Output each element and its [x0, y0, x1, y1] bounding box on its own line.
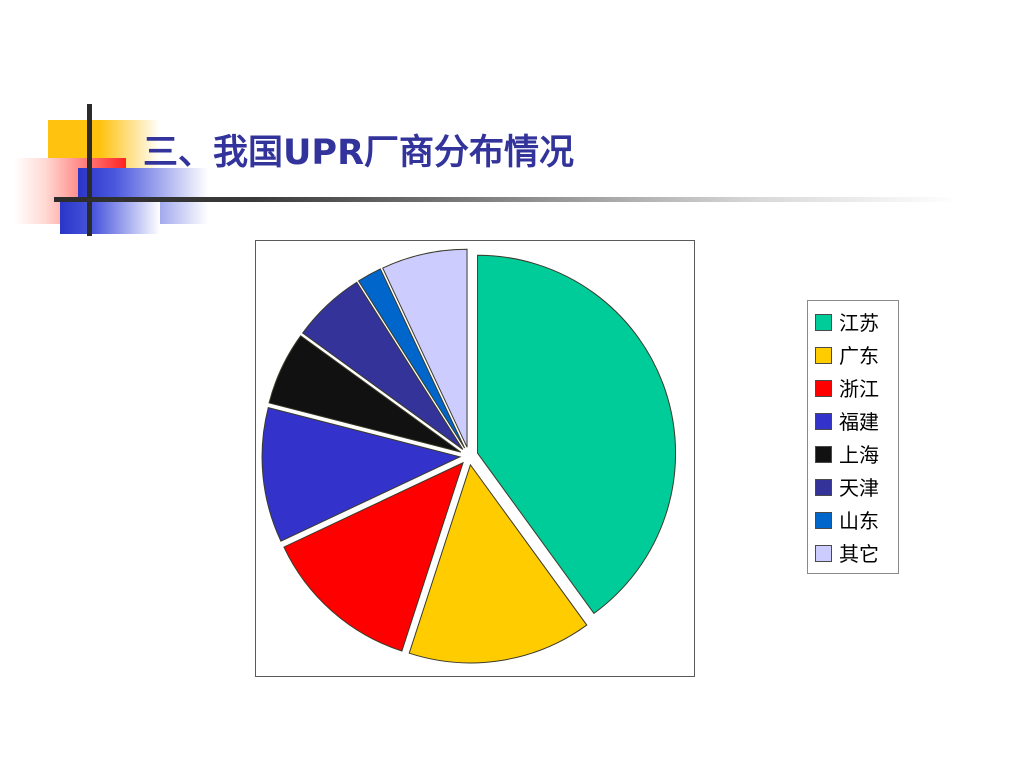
legend-label-4: 上海 — [839, 445, 879, 465]
legend-item-5[interactable]: 天津 — [815, 471, 893, 504]
legend-item-3[interactable]: 福建 — [815, 405, 893, 438]
chart-legend: 江苏 广东 浙江 福建 上海 天津 山东 其它 — [807, 300, 899, 574]
legend-item-7[interactable]: 其它 — [815, 537, 893, 570]
legend-label-5: 天津 — [839, 478, 879, 498]
legend-label-2: 浙江 — [839, 379, 879, 399]
legend-swatch-icon-1 — [815, 347, 832, 364]
legend-label-7: 其它 — [839, 544, 879, 564]
page-title: 三、我国UPR厂商分布情况 — [143, 124, 574, 175]
legend-item-2[interactable]: 浙江 — [815, 372, 893, 405]
legend-swatch-icon-6 — [815, 512, 832, 529]
legend-swatch-icon-2 — [815, 380, 832, 397]
legend-item-0[interactable]: 江苏 — [815, 306, 893, 339]
pie-chart — [256, 241, 696, 678]
legend-swatch-icon-4 — [815, 446, 832, 463]
legend-item-6[interactable]: 山东 — [815, 504, 893, 537]
legend-label-6: 山东 — [839, 511, 879, 531]
decoration-vertical-rule — [87, 104, 92, 236]
legend-label-3: 福建 — [839, 412, 879, 432]
decoration-horizontal-rule — [54, 197, 959, 202]
legend-item-4[interactable]: 上海 — [815, 438, 893, 471]
legend-label-0: 江苏 — [839, 313, 879, 333]
legend-label-1: 广东 — [839, 346, 879, 366]
legend-item-1[interactable]: 广东 — [815, 339, 893, 372]
decoration-blue-block-lower — [60, 202, 160, 234]
legend-swatch-icon-0 — [815, 314, 832, 331]
pie-chart-frame — [255, 240, 695, 677]
legend-swatch-icon-3 — [815, 413, 832, 430]
slide-canvas: 三、我国UPR厂商分布情况 江苏 广东 浙江 福建 上海 天津 — [0, 0, 1024, 768]
legend-swatch-icon-7 — [815, 545, 832, 562]
legend-swatch-icon-5 — [815, 479, 832, 496]
